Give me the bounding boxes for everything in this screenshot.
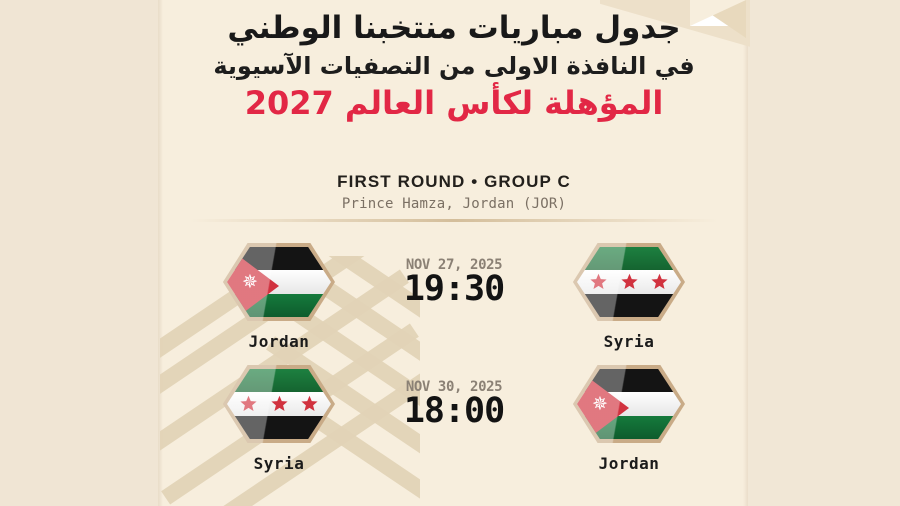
- star-icon: [301, 395, 318, 412]
- match-list: ✵JordanNOV 27, 202519:30SyriaSyriaNOV 30…: [162, 243, 746, 487]
- star-icon: [621, 273, 638, 290]
- team-name: Syria: [604, 332, 655, 351]
- seven-point-star-icon: ✵: [591, 395, 609, 413]
- star-icon: [271, 395, 288, 412]
- match-schedule: NOV 30, 202518:00: [364, 365, 544, 430]
- team-flag-badge[interactable]: ✵: [573, 365, 685, 443]
- subtitle-block: FIRST ROUND • GROUP C Prince Hamza, Jord…: [162, 172, 746, 212]
- flag-stars: [227, 392, 331, 415]
- team-name: Jordan: [249, 332, 310, 351]
- background-left-panel: [0, 0, 162, 506]
- headline-line-3: المؤهلة لكأس العالم 2027: [162, 83, 746, 123]
- team-name: Jordan: [599, 454, 660, 473]
- team-flag-badge[interactable]: [573, 243, 685, 321]
- flag-stripe-green: [227, 369, 331, 392]
- team-name: Syria: [254, 454, 305, 473]
- headline-line-1: جدول مباريات منتخبنا الوطني: [162, 10, 746, 48]
- section-divider: [190, 219, 718, 222]
- round-group-label: FIRST ROUND • GROUP C: [162, 172, 746, 192]
- flag-stripe-green: [577, 247, 681, 270]
- star-icon: [240, 395, 257, 412]
- team-home[interactable]: Syria: [194, 365, 364, 473]
- team-away[interactable]: ✵Jordan: [544, 365, 714, 473]
- match-row[interactable]: ✵JordanNOV 27, 202519:30Syria: [162, 243, 746, 365]
- match-schedule: NOV 27, 202519:30: [364, 243, 544, 308]
- match-time: 18:00: [364, 394, 544, 430]
- match-row[interactable]: SyriaNOV 30, 202518:00✵Jordan: [162, 365, 746, 487]
- flag-stars: [577, 270, 681, 293]
- seven-point-star-icon: ✵: [241, 273, 259, 291]
- star-icon: [590, 273, 607, 290]
- match-time: 19:30: [364, 272, 544, 308]
- team-away[interactable]: Syria: [544, 243, 714, 351]
- headline-line-2: في النافذة الاولى من التصفيات الآسيوية: [162, 50, 746, 82]
- poster-headline: جدول مباريات منتخبنا الوطني في النافذة ا…: [162, 10, 746, 123]
- flag-stripe-black: [227, 416, 331, 439]
- star-icon: [651, 273, 668, 290]
- background-right-panel: [746, 0, 900, 506]
- venue-label: Prince Hamza, Jordan (JOR): [162, 196, 746, 212]
- team-flag-badge[interactable]: [223, 365, 335, 443]
- flag-stripe-black: [577, 294, 681, 317]
- team-flag-badge[interactable]: ✵: [223, 243, 335, 321]
- poster-canvas: جدول مباريات منتخبنا الوطني في النافذة ا…: [0, 0, 900, 506]
- team-home[interactable]: ✵Jordan: [194, 243, 364, 351]
